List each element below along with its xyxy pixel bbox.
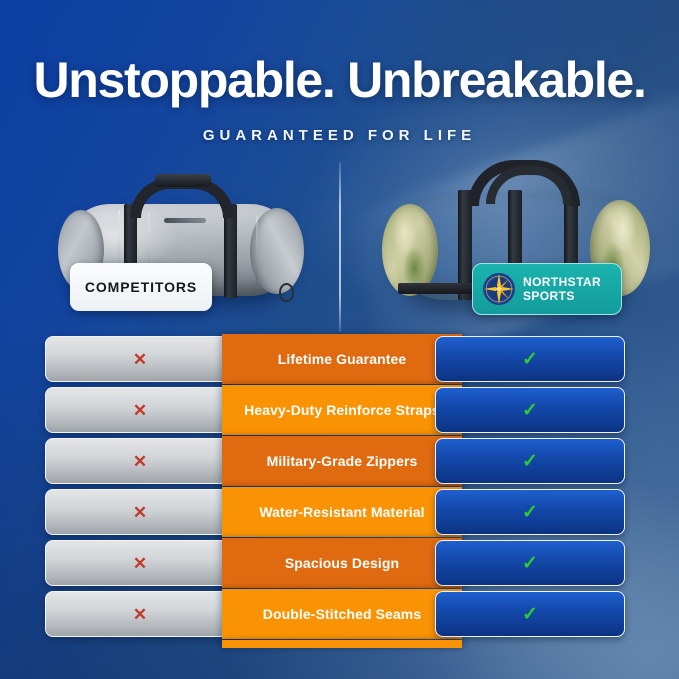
competitor-cell: ✕ bbox=[45, 591, 235, 637]
feature-label: Lifetime Guarantee bbox=[222, 334, 462, 384]
cross-icon: ✕ bbox=[133, 555, 147, 572]
northstar-cell: ✓ bbox=[435, 438, 625, 484]
cross-icon: ✕ bbox=[133, 453, 147, 470]
bag-zipper bbox=[164, 218, 206, 223]
check-icon: ✓ bbox=[522, 401, 538, 420]
feature-label: Heavy-Duty Reinforce Straps bbox=[222, 385, 462, 435]
northstar-cell: ✓ bbox=[435, 336, 625, 382]
feature-label: Double-Stitched Seams bbox=[222, 589, 462, 639]
comparison-row: ✕ Military-Grade Zippers ✓ bbox=[0, 436, 679, 486]
cross-icon: ✕ bbox=[133, 606, 147, 623]
bag-crease bbox=[256, 216, 258, 286]
comparison-row: ✕ Double-Stitched Seams ✓ bbox=[0, 589, 679, 639]
competitors-label: COMPETITORS bbox=[70, 263, 212, 311]
bag-handle-grip bbox=[155, 174, 211, 187]
northstar-brand-badge: NORTHSTAR SPORTS bbox=[472, 263, 622, 315]
comparison-table: ✕ Lifetime Guarantee ✓ ✕ Heavy-Duty Rein… bbox=[0, 334, 679, 640]
feature-label: Military-Grade Zippers bbox=[222, 436, 462, 486]
competitor-cell: ✕ bbox=[45, 540, 235, 586]
feature-label: Water-Resistant Material bbox=[222, 487, 462, 537]
page-title: Unstoppable. Unbreakable. bbox=[0, 55, 679, 105]
northstar-cell: ✓ bbox=[435, 489, 625, 535]
northstar-brand-text: NORTHSTAR SPORTS bbox=[523, 275, 601, 303]
feature-column-footer bbox=[222, 640, 462, 648]
competitor-cell: ✕ bbox=[45, 438, 235, 484]
bag-strap bbox=[224, 204, 237, 298]
comparison-row: ✕ Spacious Design ✓ bbox=[0, 538, 679, 588]
cross-icon: ✕ bbox=[133, 351, 147, 368]
competitor-cell: ✕ bbox=[45, 336, 235, 382]
check-icon: ✓ bbox=[522, 605, 538, 624]
cross-icon: ✕ bbox=[133, 504, 147, 521]
comparison-row: ✕ Water-Resistant Material ✓ bbox=[0, 487, 679, 537]
check-icon: ✓ bbox=[522, 503, 538, 522]
check-icon: ✓ bbox=[522, 350, 538, 369]
brand-line-1: NORTHSTAR bbox=[523, 275, 601, 289]
bag-end-right bbox=[250, 208, 304, 294]
northstar-cell: ✓ bbox=[435, 387, 625, 433]
compass-star-icon bbox=[482, 272, 516, 306]
bag-clip bbox=[279, 283, 294, 302]
competitor-cell: ✕ bbox=[45, 387, 235, 433]
page-subtitle: GUARANTEED FOR LIFE bbox=[0, 127, 679, 144]
column-divider bbox=[339, 162, 341, 332]
competitor-cell: ✕ bbox=[45, 489, 235, 535]
check-icon: ✓ bbox=[522, 554, 538, 573]
northstar-cell: ✓ bbox=[435, 591, 625, 637]
comparison-row: ✕ Lifetime Guarantee ✓ bbox=[0, 334, 679, 384]
comparison-row: ✕ Heavy-Duty Reinforce Straps ✓ bbox=[0, 385, 679, 435]
product-comparison-poster: Unstoppable. Unbreakable. GUARANTEED FOR… bbox=[0, 0, 679, 679]
check-icon: ✓ bbox=[522, 452, 538, 471]
feature-label: Spacious Design bbox=[222, 538, 462, 588]
northstar-cell: ✓ bbox=[435, 540, 625, 586]
brand-line-2: SPORTS bbox=[523, 289, 601, 303]
cross-icon: ✕ bbox=[133, 402, 147, 419]
